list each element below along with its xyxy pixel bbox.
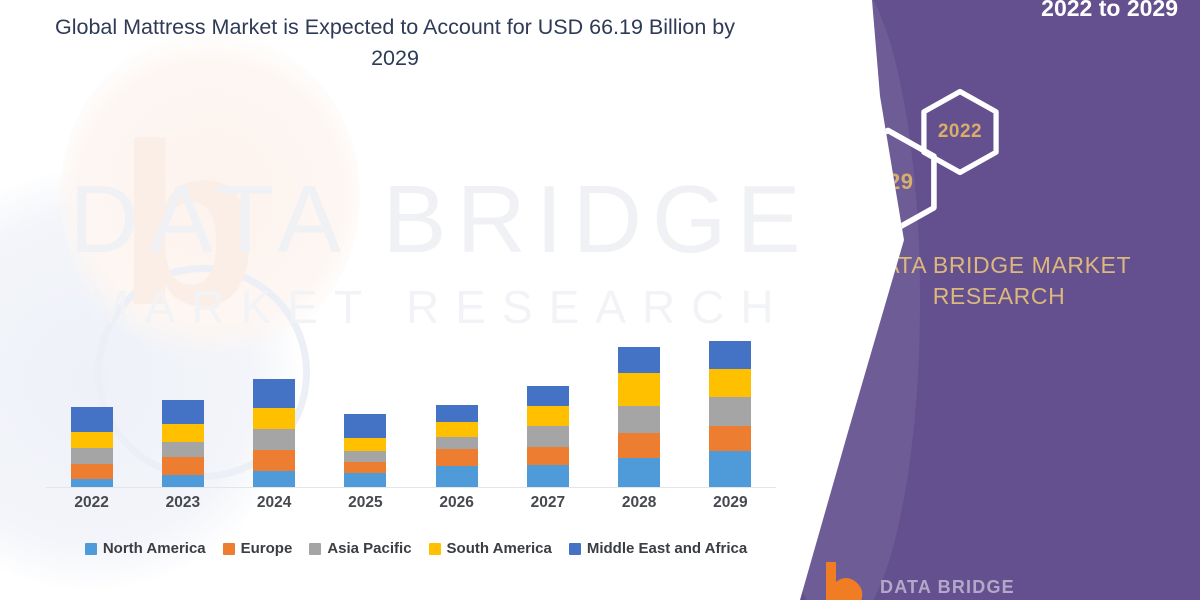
hexagon-2022: 2022 xyxy=(916,88,1004,176)
stacked-bar xyxy=(162,400,204,487)
bar-segment xyxy=(253,379,295,408)
legend-label: South America xyxy=(447,540,552,557)
bar-column xyxy=(320,100,410,487)
logo-title: DATA BRIDGE xyxy=(880,578,1015,597)
bar-segment xyxy=(436,422,478,437)
x-axis-label: 2023 xyxy=(138,494,228,512)
bar-segment xyxy=(344,414,386,438)
bar-column xyxy=(138,100,228,487)
chart-title: Global Mattress Market is Expected to Ac… xyxy=(50,12,740,73)
bar-segment xyxy=(527,386,569,406)
bar-column xyxy=(412,100,502,487)
stacked-bar xyxy=(618,347,660,487)
bar-segment xyxy=(162,424,204,442)
chart-panel: b DATA BRIDGE MARKET RESEARCH Global Mat… xyxy=(0,0,880,600)
company-logo: DATA BRIDGE MARKET RESEARCH xyxy=(820,560,1015,600)
legend-swatch-icon xyxy=(223,543,235,555)
bar-segment xyxy=(618,458,660,487)
logo-wordmark: DATA BRIDGE MARKET RESEARCH xyxy=(880,578,1015,600)
x-axis-label: 2024 xyxy=(229,494,319,512)
bar-segment xyxy=(527,465,569,487)
bar-segment xyxy=(253,450,295,471)
bar-segment xyxy=(344,451,386,462)
bar-column xyxy=(503,100,593,487)
bar-segment xyxy=(709,426,751,451)
legend-swatch-icon xyxy=(85,543,97,555)
bar-segment xyxy=(162,475,204,487)
x-axis-label: 2025 xyxy=(320,494,410,512)
legend-swatch-icon xyxy=(569,543,581,555)
legend-label: Europe xyxy=(241,540,293,557)
bar-segment xyxy=(344,438,386,451)
bar-segment xyxy=(253,429,295,450)
stacked-bar xyxy=(71,407,113,487)
bar-column xyxy=(685,100,775,487)
legend-item[interactable]: Asia Pacific xyxy=(309,540,411,557)
x-axis-line xyxy=(46,487,776,488)
legend-item[interactable]: North America xyxy=(85,540,206,557)
logo-b-glyph-icon xyxy=(820,560,870,600)
bar-segment xyxy=(71,448,113,464)
bar-segment xyxy=(253,408,295,429)
bar-segment xyxy=(527,426,569,447)
legend-swatch-icon xyxy=(429,543,441,555)
bar-column xyxy=(594,100,684,487)
x-axis-labels: 20222023202420252026202720282029 xyxy=(46,494,776,512)
bar-segment xyxy=(162,457,204,475)
x-axis-label: 2029 xyxy=(685,494,775,512)
x-axis-label: 2026 xyxy=(412,494,502,512)
stacked-bar xyxy=(709,341,751,487)
x-axis-label: 2028 xyxy=(594,494,684,512)
bar-segment xyxy=(436,466,478,487)
bar-segment xyxy=(344,462,386,473)
chart-legend: North AmericaEuropeAsia PacificSouth Ame… xyxy=(36,540,796,557)
chart-plot-area xyxy=(46,100,776,488)
bar-segment xyxy=(436,437,478,450)
bar-segment xyxy=(71,432,113,448)
legend-label: Asia Pacific xyxy=(327,540,411,557)
hexagon-2022-label: 2022 xyxy=(938,121,982,143)
bar-segment xyxy=(71,464,113,479)
legend-swatch-icon xyxy=(309,543,321,555)
bar-segment xyxy=(253,471,295,487)
x-axis-label: 2027 xyxy=(503,494,593,512)
legend-label: Middle East and Africa xyxy=(587,540,747,557)
legend-item[interactable]: South America xyxy=(429,540,552,557)
legend-label: North America xyxy=(103,540,206,557)
stacked-bar xyxy=(527,386,569,487)
legend-item[interactable]: Middle East and Africa xyxy=(569,540,747,557)
stacked-bar-group xyxy=(46,100,776,487)
bar-segment xyxy=(618,406,660,433)
bar-segment xyxy=(162,400,204,424)
bar-segment xyxy=(709,397,751,426)
bar-segment xyxy=(527,406,569,426)
bar-segment xyxy=(709,369,751,397)
bar-column xyxy=(229,100,319,487)
bar-segment xyxy=(71,479,113,487)
bar-segment xyxy=(436,449,478,466)
bar-segment xyxy=(709,341,751,369)
x-axis-label: 2022 xyxy=(47,494,137,512)
stacked-bar xyxy=(436,405,478,487)
bar-column xyxy=(47,100,137,487)
stacked-bar xyxy=(344,414,386,487)
legend-item[interactable]: Europe xyxy=(223,540,293,557)
bar-segment xyxy=(71,407,113,432)
bar-segment xyxy=(162,442,204,457)
bar-segment xyxy=(344,473,386,487)
bar-segment xyxy=(618,373,660,406)
bar-segment xyxy=(618,433,660,458)
bar-segment xyxy=(618,347,660,373)
infographic-root: b DATA BRIDGE MARKET RESEARCH Global Mat… xyxy=(0,0,1200,600)
bar-segment xyxy=(527,447,569,465)
bar-segment xyxy=(709,451,751,487)
logo-b-icon xyxy=(820,560,870,600)
stacked-bar xyxy=(253,379,295,487)
bar-segment xyxy=(436,405,478,422)
